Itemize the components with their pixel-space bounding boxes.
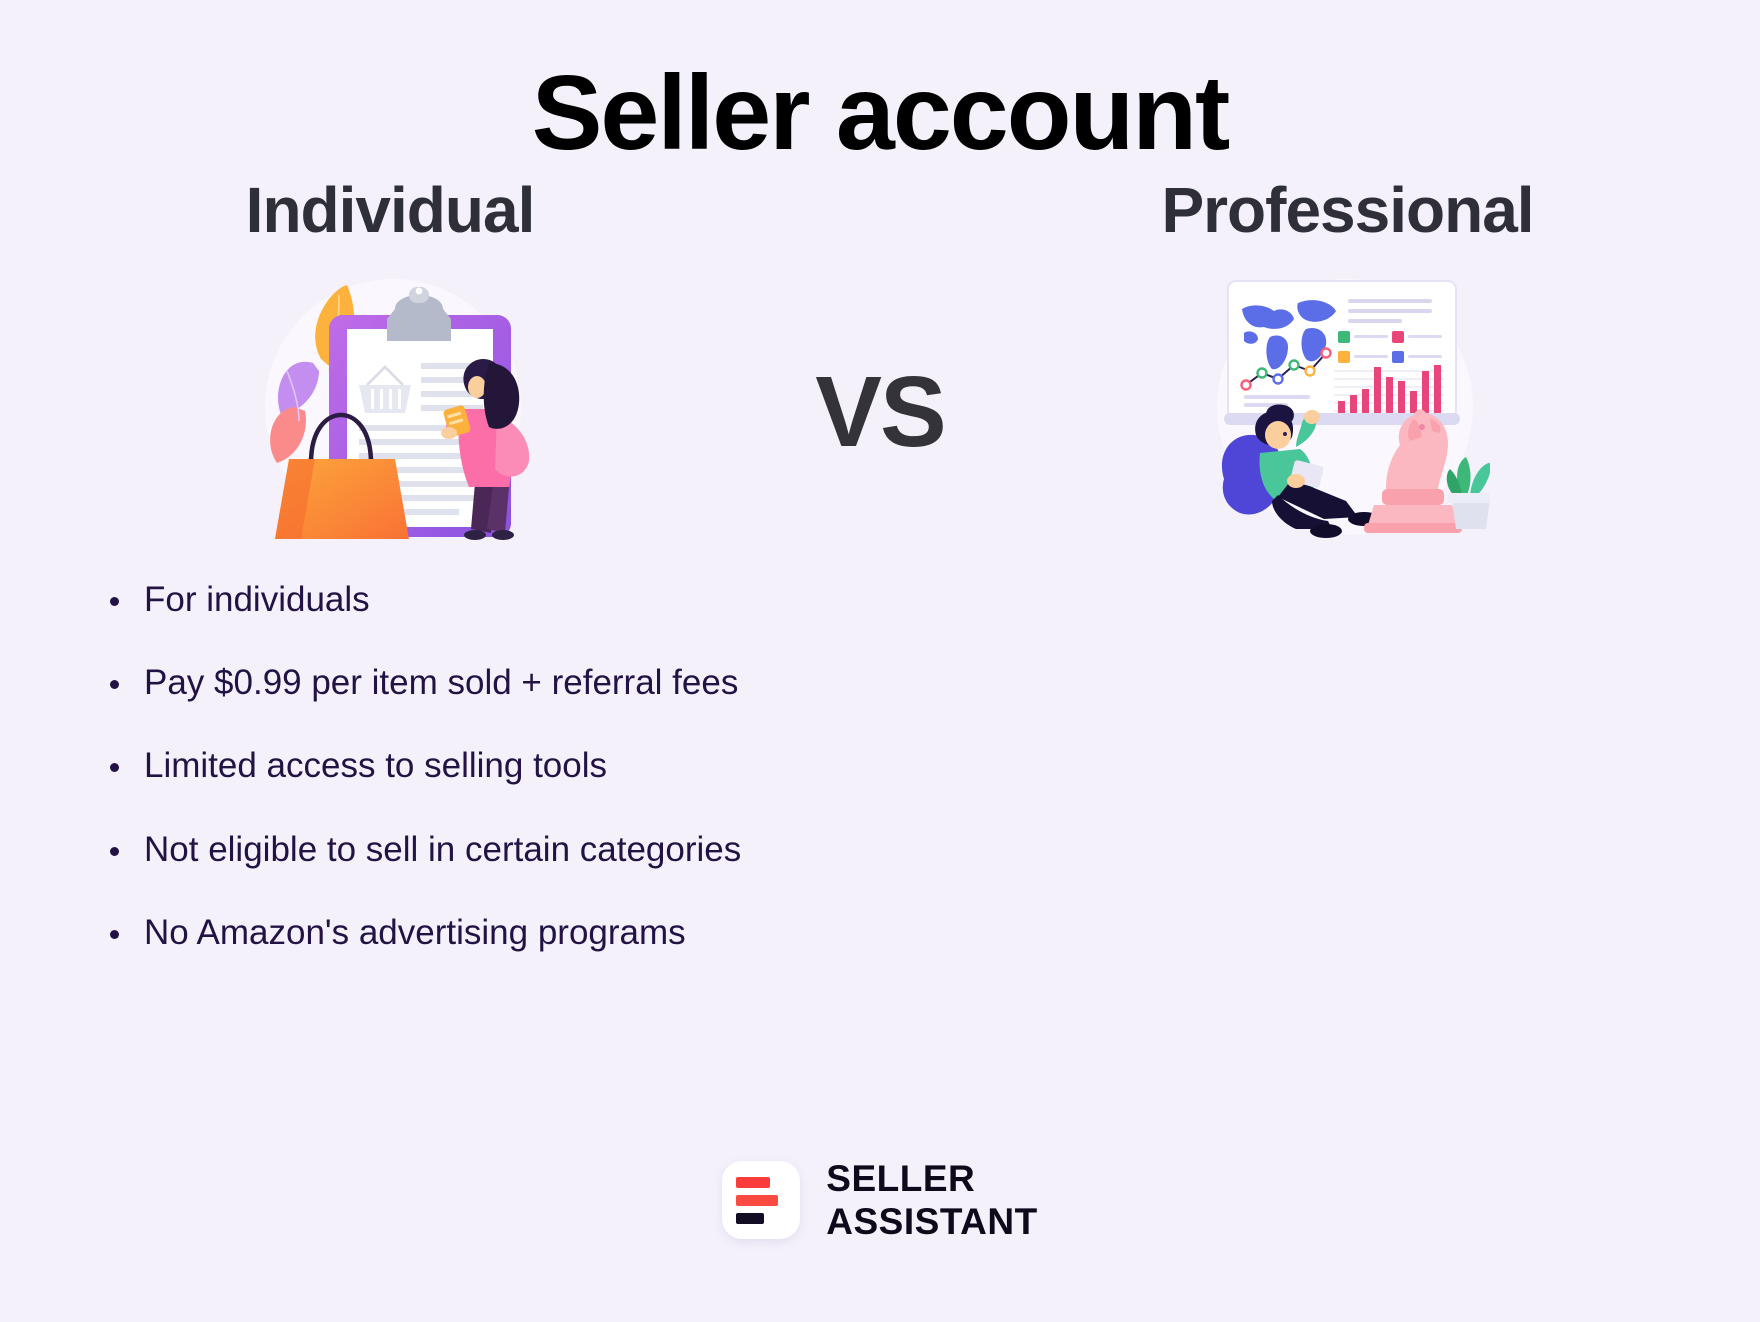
heading-individual: Individual	[0, 175, 880, 245]
list-item: No Amazon's advertising programs	[100, 911, 840, 954]
list-item: Limited access to selling tools	[100, 744, 840, 787]
column-professional-header: Professional	[880, 175, 1760, 245]
bullet-list-individual: For individuals Pay $0.99 per item sold …	[100, 578, 840, 955]
page-title: Seller account	[0, 0, 1760, 169]
list-item: For individuals	[100, 578, 840, 621]
logo-bar-red-top	[736, 1177, 770, 1188]
heading-professional: Professional	[880, 175, 1760, 245]
brand-name-line1: SELLER	[826, 1157, 1037, 1201]
logo-bar-dark-bottom	[736, 1213, 764, 1224]
list-item: Not eligible to sell in certain categori…	[100, 828, 840, 871]
list-item: Pay $0.99 per item sold + referral fees	[100, 661, 840, 704]
bullet-lists-row: For individuals Pay $0.99 per item sold …	[0, 552, 1760, 995]
footer-brand: SELLER ASSISTANT	[0, 1157, 1760, 1244]
bullets-column-professional: For high-volume sellers Monthly subscrip…	[880, 552, 1760, 995]
infographic-page: Seller account Individual Professional V…	[0, 0, 1760, 1322]
logo-bar-red-middle	[736, 1195, 778, 1206]
column-headings-row: Individual Professional	[0, 175, 1760, 245]
vs-label: VS	[0, 355, 1760, 470]
seller-assistant-logo-icon	[722, 1161, 800, 1239]
column-individual-header: Individual	[0, 175, 880, 245]
bullets-column-individual: For individuals Pay $0.99 per item sold …	[0, 552, 880, 995]
brand-name: SELLER ASSISTANT	[826, 1157, 1037, 1244]
brand-name-line2: ASSISTANT	[826, 1200, 1037, 1244]
